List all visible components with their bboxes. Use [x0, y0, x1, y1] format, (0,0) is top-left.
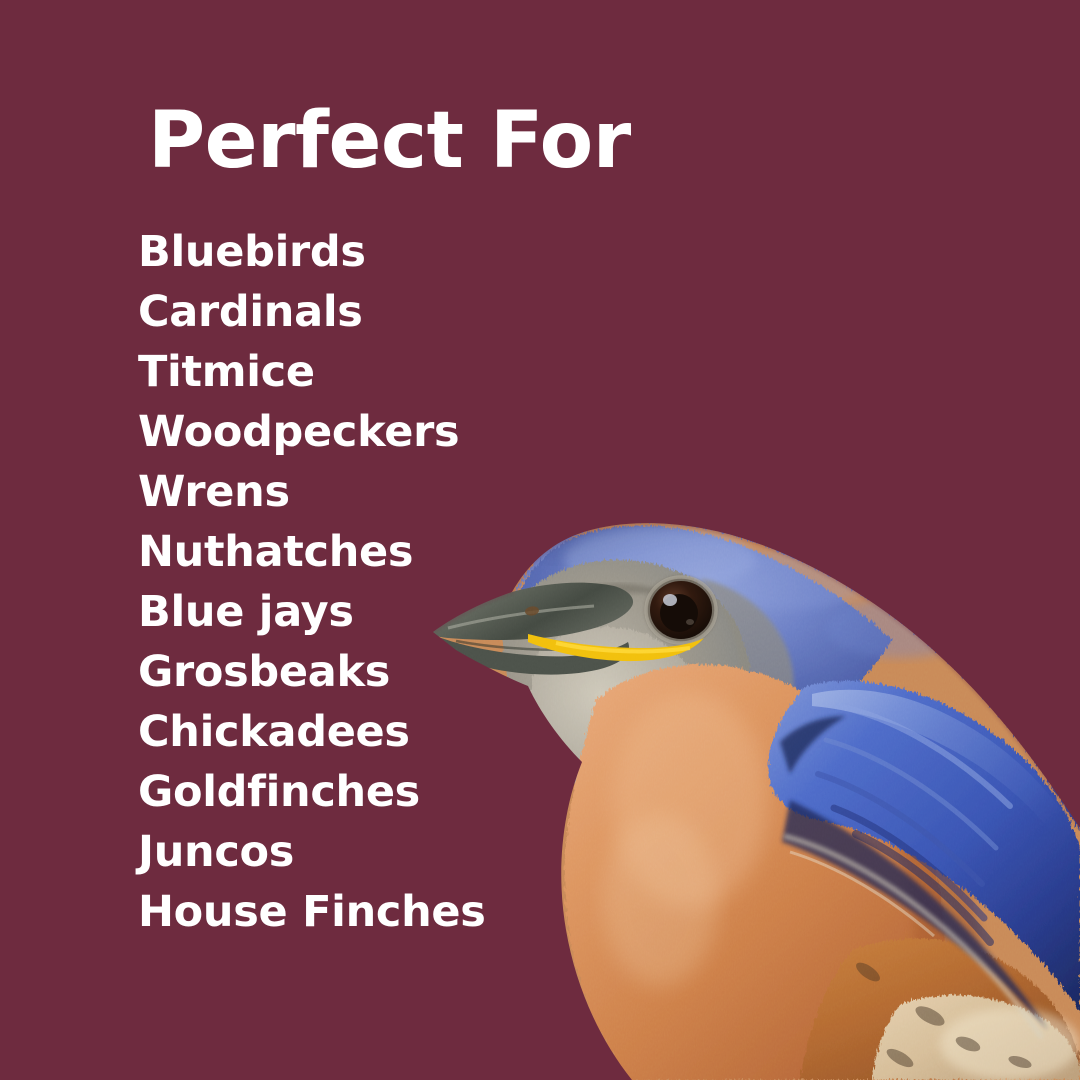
list-item: Woodpeckers: [138, 402, 486, 462]
list-item: House Finches: [138, 882, 486, 942]
page-title: Perfect For: [148, 98, 631, 184]
list-item: Titmice: [138, 342, 486, 402]
list-item: Chickadees: [138, 702, 486, 762]
list-item: Juncos: [138, 822, 486, 882]
poster-canvas: Perfect For Bluebirds Cardinals Titmice …: [0, 0, 1080, 1080]
bird-species-list: Bluebirds Cardinals Titmice Woodpeckers …: [138, 222, 486, 942]
list-item: Cardinals: [138, 282, 486, 342]
list-item: Goldfinches: [138, 762, 486, 822]
list-item: Blue jays: [138, 582, 486, 642]
list-item: Wrens: [138, 462, 486, 522]
text-layer: Perfect For Bluebirds Cardinals Titmice …: [0, 0, 1080, 1080]
list-item: Nuthatches: [138, 522, 486, 582]
list-item: Bluebirds: [138, 222, 486, 282]
list-item: Grosbeaks: [138, 642, 486, 702]
